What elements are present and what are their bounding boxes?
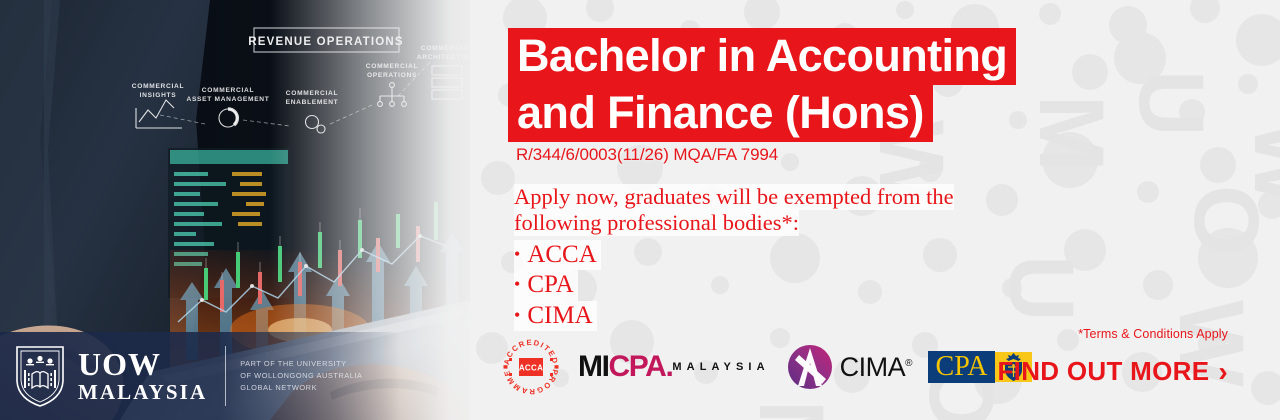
programme-code: R/344/6/0003(11/26) MQA/FA 7994 <box>516 145 778 165</box>
svg-text:ACCA: ACCA <box>519 363 543 372</box>
svg-text:U: U <box>1120 70 1222 136</box>
headline-line-2: and Finance (Hons) <box>508 85 933 142</box>
uow-wordmark: UOW MALAYSIA <box>78 349 207 402</box>
micpa-subtitle: MALAYSIA <box>672 362 769 373</box>
chevron-right-icon: › <box>1218 358 1228 386</box>
list-item: •CPA <box>514 270 578 300</box>
list-item-label: CPA <box>527 271 573 298</box>
uow-line2: MALAYSIA <box>78 381 207 403</box>
uow-tagline-line3: GLOBAL NETWORK <box>240 382 362 394</box>
micpa-wordmark: MICPA. <box>578 352 672 382</box>
uow-tagline-line1: PART OF THE UNIVERSITY <box>240 358 362 370</box>
bullet-marker: • <box>514 305 527 325</box>
uow-divider <box>225 346 226 406</box>
professional-bodies-list: •ACCA •CPA •CIMA <box>514 240 1034 331</box>
acca-seal-icon: ACCREDITED PROGRAMME ACCA <box>500 336 562 398</box>
list-item: •ACCA <box>514 240 601 270</box>
svg-text:ARCHITECTURE: ARCHITECTURE <box>417 54 470 61</box>
svg-text:COMMERCIAL: COMMERCIAL <box>366 63 418 70</box>
svg-text:COMMERCIAL: COMMERCIAL <box>202 87 254 94</box>
list-item-label: CIMA <box>527 302 592 329</box>
svg-text:COMMERCIAL: COMMERCIAL <box>286 90 338 97</box>
find-out-more-button[interactable]: FIND OUT MORE › <box>997 356 1228 387</box>
page-title: Bachelor in Accounting and Finance (Hons… <box>508 28 1108 142</box>
cima-logo: CIMA® <box>786 343 912 391</box>
uow-logo-bar: UOW MALAYSIA PART OF THE UNIVERSITY OF W… <box>0 332 400 420</box>
headline-line-1: Bachelor in Accounting <box>508 28 1016 85</box>
uow-crest-icon <box>14 344 66 408</box>
copy-line-1: Apply now, graduates will be exempted fr… <box>514 184 954 210</box>
promo-banner: U <box>0 0 1280 420</box>
cpa-wordmark: CPA <box>936 351 988 383</box>
cta-label: FIND OUT MORE <box>997 356 1209 387</box>
svg-text:COMMERCIAL: COMMERCIAL <box>132 83 184 90</box>
bullet-marker: • <box>514 274 527 294</box>
copy-line-2: following professional bodies*: <box>514 210 799 236</box>
cima-trademark: ® <box>905 358 912 369</box>
cima-globe-icon <box>786 343 834 391</box>
svg-text:OPERATIONS: OPERATIONS <box>367 72 417 79</box>
micpa-cpa: CPA. <box>609 350 673 383</box>
accreditation-logos: ACCREDITED PROGRAMME ACCA MICPA. <box>500 336 1032 398</box>
svg-text:M: M <box>740 400 842 420</box>
list-item: •CIMA <box>514 301 597 331</box>
body-copy: Apply now, graduates will be exempted fr… <box>514 184 1034 331</box>
uow-tagline-line2: OF WOLLONGONG AUSTRALIA <box>240 370 362 382</box>
svg-text:REVENUE OPERATIONS: REVENUE OPERATIONS <box>248 36 404 48</box>
uow-line1: UOW <box>78 349 207 380</box>
cima-wordmark: CIMA® <box>840 352 912 383</box>
cima-word-text: CIMA <box>840 352 906 382</box>
acca-logo: ACCREDITED PROGRAMME ACCA <box>500 336 562 398</box>
bullet-marker: • <box>514 244 527 264</box>
terms-note: *Terms & Conditions Apply <box>1078 327 1228 341</box>
svg-text:W: W <box>1235 120 1280 207</box>
list-item-label: ACCA <box>527 241 596 268</box>
svg-text:ASSET MANAGEMENT: ASSET MANAGEMENT <box>186 96 269 103</box>
svg-text:INSIGHTS: INSIGHTS <box>140 92 177 99</box>
uow-tagline: PART OF THE UNIVERSITY OF WOLLONGONG AUS… <box>240 358 362 393</box>
svg-text:ENABLEMENT: ENABLEMENT <box>286 99 339 106</box>
micpa-logo: MICPA. MALAYSIA <box>578 352 770 382</box>
svg-text:COMMERCIAL: COMMERCIAL <box>421 45 470 52</box>
micpa-mi: MI <box>578 350 609 383</box>
cpa-wordmark-block: CPA <box>928 351 995 383</box>
